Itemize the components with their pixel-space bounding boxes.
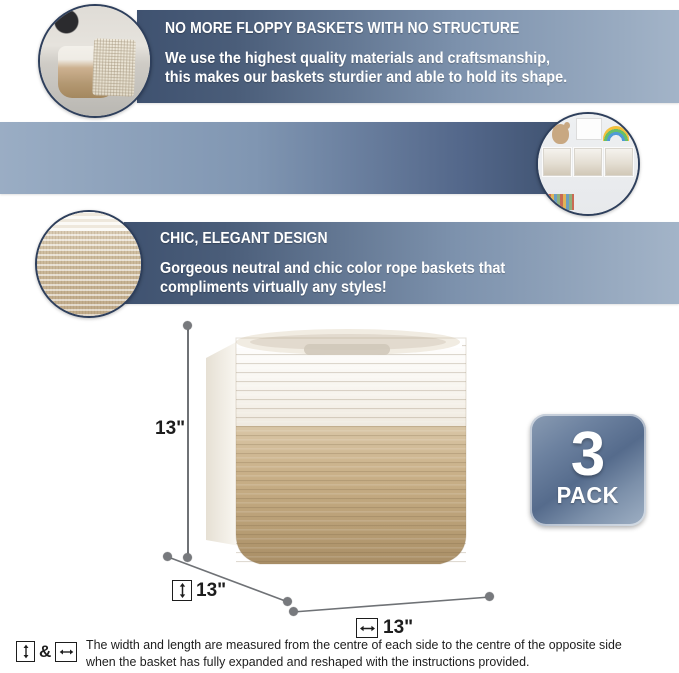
- pack-count-badge: 3 PACK: [530, 414, 646, 526]
- feature-banner-1-line2: this makes our baskets sturdier and able…: [165, 68, 567, 87]
- footnote-ampersand: &: [39, 642, 51, 662]
- nursery-cube-shelf-photo: [536, 112, 640, 216]
- rope-texture-closeup-photo: [35, 210, 143, 318]
- feature-banner-1-body: We use the highest quality materials and…: [165, 49, 567, 87]
- pack-count-number: 3: [571, 428, 605, 482]
- width-arrow-icon: [356, 618, 378, 638]
- feature-banner-1-line1: We use the highest quality materials and…: [165, 49, 567, 68]
- footnote-line1: The width and length are measured from t…: [86, 637, 622, 654]
- feature-banner-1-title: NO MORE FLOPPY BASKETS WITH NO STRUCTURE: [165, 20, 519, 38]
- pack-count-label: PACK: [557, 482, 619, 509]
- depth-dot-top: [163, 552, 172, 561]
- cotton-rope-storage-basket-photo: [196, 318, 486, 586]
- basket-with-towel-photo: [38, 4, 152, 118]
- feature-banner-2-bar: [0, 122, 566, 194]
- feature-banner-3-body: Gorgeous neutral and chic color rope bas…: [160, 259, 505, 297]
- depth-dimension-label: 13": [196, 580, 226, 602]
- product-infographic: NO MORE FLOPPY BASKETS WITH NO STRUCTURE…: [0, 0, 679, 673]
- height-arrow-icon: [172, 580, 192, 601]
- footnote-icons: &: [16, 641, 77, 662]
- height-dot-top: [183, 321, 192, 330]
- width-dimension-line: [285, 590, 500, 620]
- height-dimension-line: [187, 325, 189, 558]
- footnote-text: The width and length are measured from t…: [86, 637, 622, 670]
- footnote-line2: when the basket has fully expanded and r…: [86, 654, 622, 671]
- footnote-width-arrow-icon: [55, 642, 77, 662]
- basket-illustration: [196, 318, 486, 586]
- width-dimension-label: 13": [383, 617, 413, 639]
- height-dimension-label: 13": [155, 418, 185, 440]
- footnote-height-arrow-icon: [16, 641, 35, 662]
- feature-banner-3-line1: Gorgeous neutral and chic color rope bas…: [160, 259, 505, 278]
- measurement-footnote: & The width and length are measured from…: [16, 637, 671, 670]
- feature-banner-3-title: CHIC, ELEGANT DESIGN: [160, 230, 328, 248]
- width-dot-right: [485, 592, 494, 601]
- width-dot-left: [289, 607, 298, 616]
- feature-banner-3-line2: compliments virtually any styles!: [160, 278, 505, 297]
